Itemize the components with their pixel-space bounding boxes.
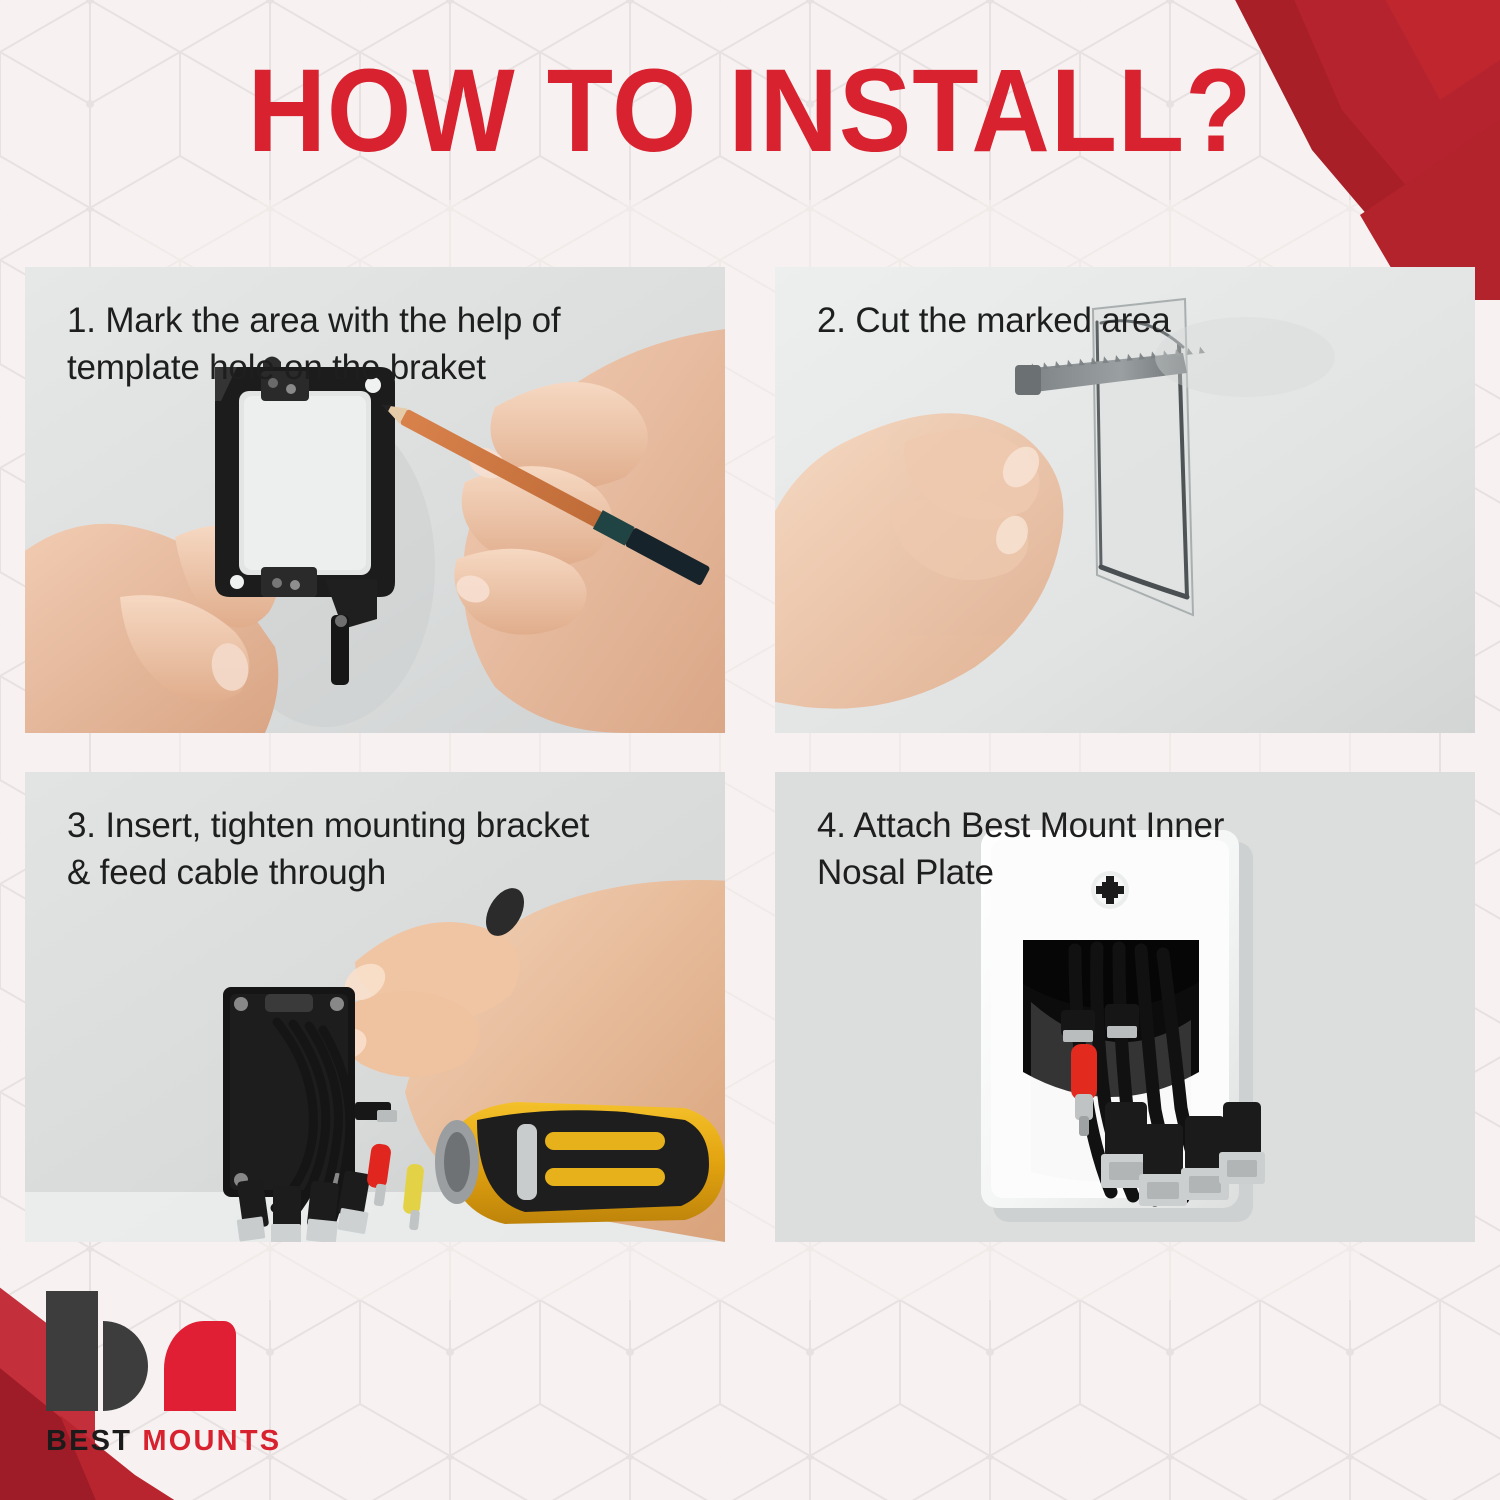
step-3-caption: 3. Insert, tighten mounting bracket & fe… bbox=[67, 802, 701, 897]
step-panel-1: 1. Mark the area with the help of templa… bbox=[25, 267, 725, 733]
logo-word-mounts: MOUNTS bbox=[142, 1425, 281, 1457]
infographic-root: HOW TO INSTALL? bbox=[0, 0, 1500, 1500]
step-4-caption: 4. Attach Best Mount Inner Nosal Plate bbox=[817, 802, 1451, 897]
logo-b-bowl-shape bbox=[103, 1321, 148, 1411]
step-panel-4: 4. Attach Best Mount Inner Nosal Plate bbox=[775, 772, 1475, 1242]
step-panel-2: 2. Cut the marked area bbox=[775, 267, 1475, 733]
step-panel-3: 3. Insert, tighten mounting bracket & fe… bbox=[25, 772, 725, 1242]
logo-b-stem-shape bbox=[46, 1291, 98, 1411]
logo-word-best: BEST bbox=[46, 1425, 132, 1457]
logo-mark bbox=[46, 1291, 236, 1411]
power-drill bbox=[435, 1102, 725, 1224]
logo-wordmark: BEST MOUNTS bbox=[46, 1425, 281, 1458]
steps-grid: 1. Mark the area with the help of templa… bbox=[25, 267, 1475, 1242]
logo-n-shape bbox=[164, 1321, 236, 1411]
step-1-caption: 1. Mark the area with the help of templa… bbox=[67, 297, 701, 392]
brand-logo: BEST MOUNTS bbox=[46, 1291, 281, 1458]
page-title: HOW TO INSTALL? bbox=[60, 52, 1440, 170]
step-2-caption: 2. Cut the marked area bbox=[817, 297, 1451, 344]
